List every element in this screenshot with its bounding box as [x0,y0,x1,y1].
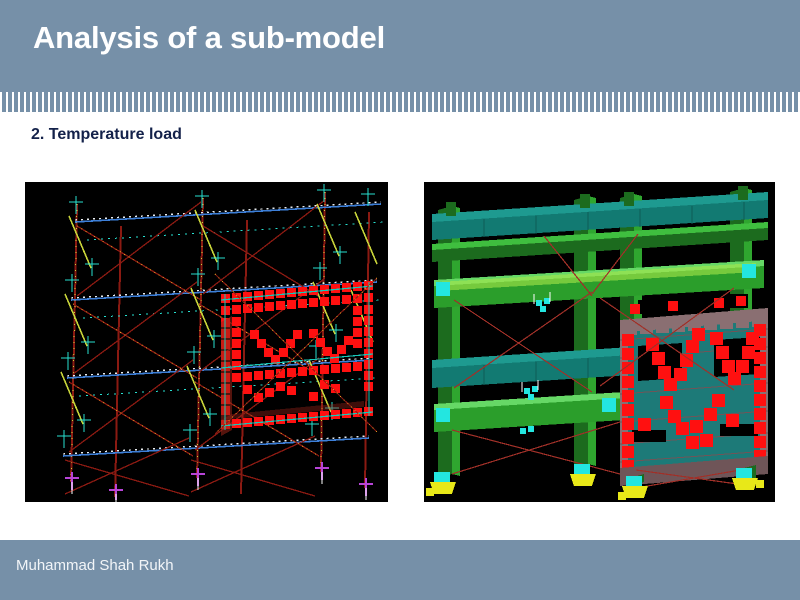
slide-footer: Muhammad Shah Rukh [0,540,800,600]
header-tick-divider [0,92,800,112]
page-title: Analysis of a sub-model [33,20,385,56]
slide: Analysis of a sub-model 2. Temperature l… [0,0,800,600]
figure-wireframe-global-model [25,182,388,502]
section-subtitle: 2. Temperature load [31,126,182,144]
wireframe-model-graphic [25,182,388,502]
figure-shaded-submodel-result [424,182,775,502]
slide-header: Analysis of a sub-model [0,0,800,112]
footer-author: Muhammad Shah Rukh [16,557,174,574]
shaded-model-graphic [424,182,775,502]
